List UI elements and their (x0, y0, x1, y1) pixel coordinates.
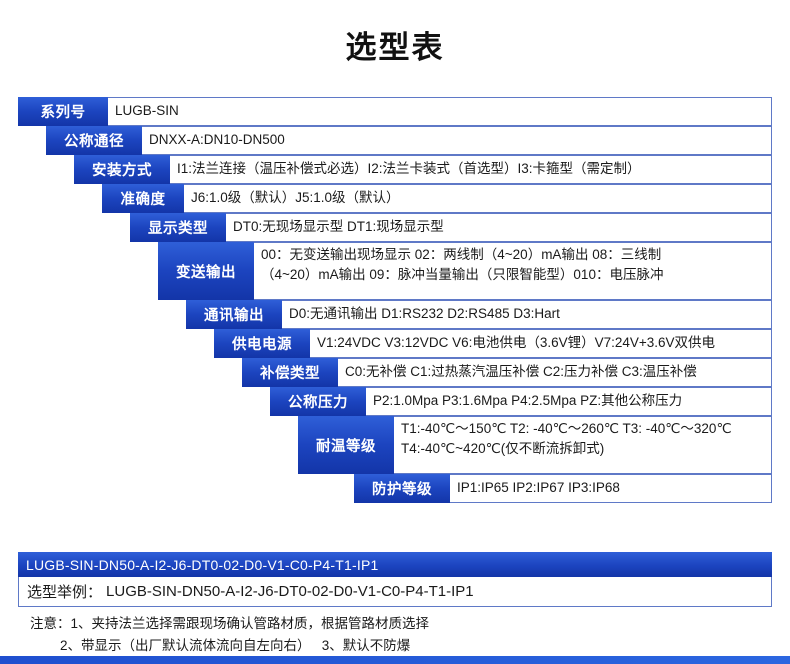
spec-row-label: 公称压力 (270, 387, 366, 416)
spec-row-communication-output: 通讯输出 D0:无通讯输出 D1:RS232 D2:RS485 D3:Hart (186, 300, 772, 329)
spec-row-label: 显示类型 (130, 213, 226, 242)
spec-row-value-line: 00：无变送输出现场显示 02：两线制（4~20）mA输出 08：三线制 (261, 245, 767, 265)
selection-table-page: 选型表 系列号 LUGB-SIN 公称通径 DNXX-A:DN10-DN500 … (0, 0, 790, 664)
spec-row-label: 防护等级 (354, 474, 450, 503)
spec-row-label: 安装方式 (74, 155, 170, 184)
spec-row-value: DT0:无现场显示型 DT1:现场显示型 (226, 213, 772, 242)
spec-row-compensation-type: 补偿类型 C0:无补偿 C1:过热蒸汽温压补偿 C2:压力补偿 C3:温压补偿 (242, 358, 772, 387)
spec-row-value: LUGB-SIN (108, 97, 772, 126)
example-label: 选型举例： (27, 581, 102, 602)
spec-row-transmitter-output: 变送输出 00：无变送输出现场显示 02：两线制（4~20）mA输出 08：三线… (158, 242, 772, 300)
spec-row-value: J6:1.0级（默认）J5:1.0级（默认） (184, 184, 772, 213)
spec-row-label: 系列号 (18, 97, 108, 126)
note-line: 注意：1、夹持法兰选择需跟现场确认管路材质，根据管路材质选择 (30, 613, 770, 635)
spec-row-label: 变送输出 (158, 242, 254, 300)
spec-row-value-line: T4:-40℃~420℃(仅不断流拆卸式) (401, 439, 767, 459)
spec-row-value: D0:无通讯输出 D1:RS232 D2:RS485 D3:Hart (282, 300, 772, 329)
spec-row-label: 供电电源 (214, 329, 310, 358)
spec-row-value: P2:1.0Mpa P3:1.6Mpa P4:2.5Mpa PZ:其他公称压力 (366, 387, 772, 416)
spec-row-label: 通讯输出 (186, 300, 282, 329)
spec-row-value-line: T1:-40℃～150℃ T2: -40℃～260℃ T3: -40℃～320℃ (401, 419, 767, 439)
page-title: 选型表 (0, 22, 790, 67)
spec-row-display-type: 显示类型 DT0:无现场显示型 DT1:现场显示型 (130, 213, 772, 242)
spec-row-label: 耐温等级 (298, 416, 394, 474)
spec-row-label: 公称通径 (46, 126, 142, 155)
example-row: 选型举例： LUGB-SIN-DN50-A-I2-J6-DT0-02-D0-V1… (18, 577, 772, 607)
spec-row-protection-grade: 防护等级 IP1:IP65 IP2:IP67 IP3:IP68 (354, 474, 772, 503)
spec-row-value: 00：无变送输出现场显示 02：两线制（4~20）mA输出 08：三线制 （4~… (254, 242, 772, 300)
example-code: LUGB-SIN-DN50-A-I2-J6-DT0-02-D0-V1-C0-P4… (106, 583, 474, 600)
spec-row-value: IP1:IP65 IP2:IP67 IP3:IP68 (450, 474, 772, 503)
result-code-bar: LUGB-SIN-DN50-A-I2-J6-DT0-02-D0-V1-C0-P4… (18, 552, 772, 577)
spec-row-series: 系列号 LUGB-SIN (18, 97, 772, 126)
spec-row-temperature-grade: 耐温等级 T1:-40℃～150℃ T2: -40℃～260℃ T3: -40℃… (298, 416, 772, 474)
spec-row-accuracy: 准确度 J6:1.0级（默认）J5:1.0级（默认） (102, 184, 772, 213)
spec-row-value: C0:无补偿 C1:过热蒸汽温压补偿 C2:压力补偿 C3:温压补偿 (338, 358, 772, 387)
spec-row-label: 补偿类型 (242, 358, 338, 387)
spec-row-value: T1:-40℃～150℃ T2: -40℃～260℃ T3: -40℃～320℃… (394, 416, 772, 474)
note-line: 2、带显示（出厂默认流体流向自左向右） 3、默认不防爆 (30, 635, 770, 657)
spec-row-installation: 安装方式 I1:法兰连接（温压补偿式必选）I2:法兰卡装式（首选型）I3:卡箍型… (74, 155, 772, 184)
spec-row-value: V1:24VDC V3:12VDC V6:电池供电（3.6V锂）V7:24V+3… (310, 329, 772, 358)
spec-row-nominal-diameter: 公称通径 DNXX-A:DN10-DN500 (46, 126, 772, 155)
spec-row-value: DNXX-A:DN10-DN500 (142, 126, 772, 155)
spec-row-value: I1:法兰连接（温压补偿式必选）I2:法兰卡装式（首选型）I3:卡箍型（需定制） (170, 155, 772, 184)
bottom-accent-strip (0, 656, 790, 664)
spec-row-power-supply: 供电电源 V1:24VDC V3:12VDC V6:电池供电（3.6V锂）V7:… (214, 329, 772, 358)
spec-row-label: 准确度 (102, 184, 184, 213)
spec-row-value-line: （4~20）mA输出 09：脉冲当量输出（只限智能型）010：电压脉冲 (261, 265, 767, 285)
notes-block: 注意：1、夹持法兰选择需跟现场确认管路材质，根据管路材质选择 2、带显示（出厂默… (30, 613, 770, 658)
spec-row-nominal-pressure: 公称压力 P2:1.0Mpa P3:1.6Mpa P4:2.5Mpa PZ:其他… (270, 387, 772, 416)
